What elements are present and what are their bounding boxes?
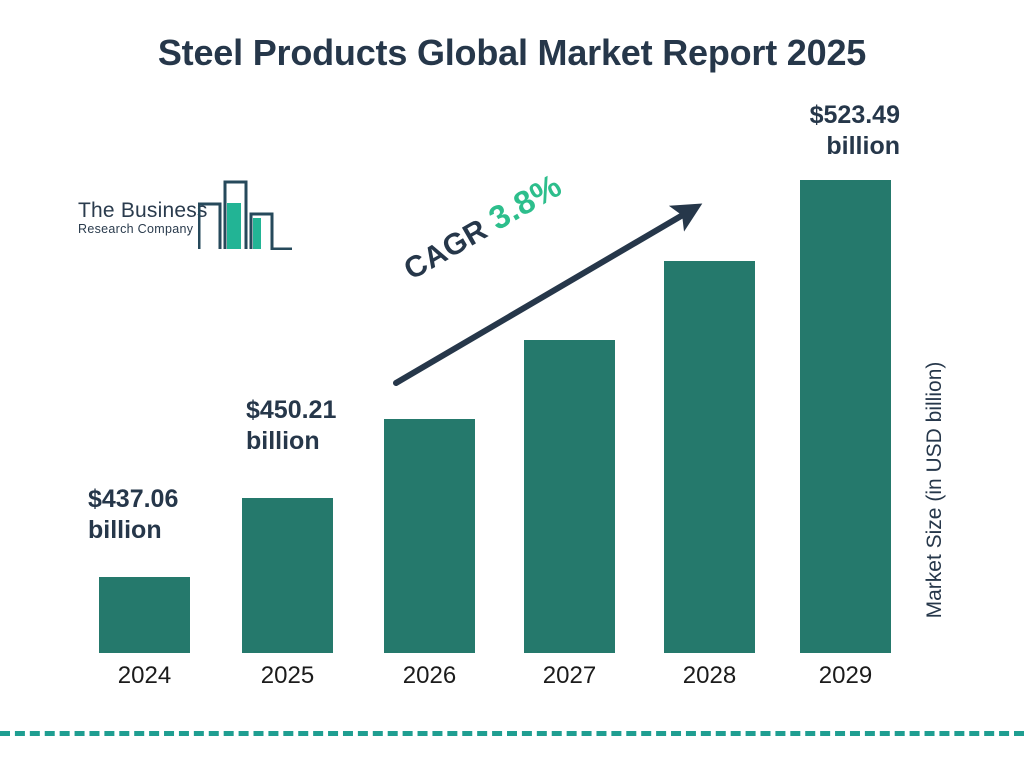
x-tick-2027: 2027 bbox=[514, 662, 625, 690]
value-label-2024-unit: billion bbox=[88, 515, 268, 546]
value-label-2025: $450.21 billion bbox=[246, 395, 436, 456]
chart-page: Steel Products Global Market Report 2025… bbox=[0, 0, 1024, 768]
y-axis-title-text: Market Size (in USD billion) bbox=[923, 362, 947, 619]
footer-divider bbox=[0, 731, 1024, 736]
value-label-2029-amount: $523.49 bbox=[782, 100, 900, 131]
bar-2028 bbox=[664, 261, 755, 653]
x-tick-2024: 2024 bbox=[89, 662, 200, 690]
x-tick-2028: 2028 bbox=[654, 662, 765, 690]
value-label-2024-amount: $437.06 bbox=[88, 484, 268, 515]
value-label-2029-unit: billion bbox=[782, 131, 900, 162]
x-tick-2026: 2026 bbox=[374, 662, 485, 690]
x-tick-2029: 2029 bbox=[790, 662, 901, 690]
bar-2027 bbox=[524, 340, 615, 653]
bar-2029 bbox=[800, 180, 891, 653]
value-label-2025-amount: $450.21 bbox=[246, 395, 436, 426]
value-label-2025-unit: billion bbox=[246, 426, 436, 457]
bar-2024 bbox=[99, 577, 190, 653]
value-label-2024: $437.06 billion bbox=[88, 484, 268, 545]
y-axis-title: Market Size (in USD billion) bbox=[920, 320, 950, 660]
x-tick-2025: 2025 bbox=[232, 662, 343, 690]
value-label-2029: $523.49 billion bbox=[782, 100, 900, 161]
